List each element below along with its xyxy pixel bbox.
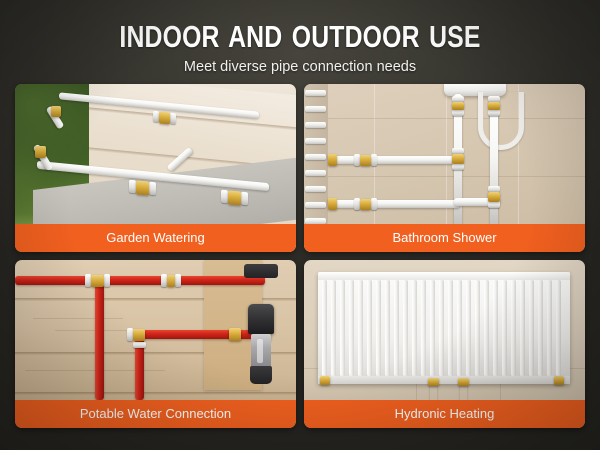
radiator-fin — [322, 280, 327, 376]
brass-fitting — [360, 155, 371, 166]
pipe-collar — [452, 110, 464, 116]
radiator-fin — [529, 280, 534, 376]
radiator-fin — [493, 280, 498, 376]
towel-rail — [305, 202, 326, 208]
brass-fitting — [488, 192, 500, 202]
panel-potable-water-connection[interactable]: Potable Water Connection — [15, 260, 296, 428]
brass-fitting — [136, 180, 149, 195]
radiator-fin — [349, 280, 354, 376]
towel-rail — [305, 106, 326, 112]
radiator-fin — [484, 280, 489, 376]
towel-rail — [305, 186, 326, 192]
radiator-fin — [547, 280, 552, 376]
brass-fitting — [328, 198, 337, 210]
radiator-fin — [520, 280, 525, 376]
radiator-fin — [448, 280, 453, 376]
towel-rail — [305, 138, 326, 144]
water-pipe — [332, 200, 460, 208]
pipe-collar — [452, 164, 464, 170]
brass-elbow — [133, 329, 145, 341]
pipe-collar — [133, 342, 146, 348]
wood-grain — [33, 318, 123, 319]
radiator-fin — [556, 280, 561, 376]
radiator-fin — [340, 280, 345, 376]
towel-rail — [305, 154, 326, 160]
brass-fitting — [159, 111, 170, 124]
towel-rail — [305, 90, 326, 96]
pipe-collar — [371, 198, 377, 210]
shower-hose — [478, 92, 524, 150]
panel-caption: Potable Water Connection — [15, 400, 296, 428]
radiator-top-rail — [318, 272, 570, 280]
brass-valve — [458, 378, 469, 386]
panel-bathroom-shower[interactable]: Bathroom Shower — [304, 84, 585, 252]
pipe-collar — [488, 202, 500, 208]
red-pipe — [15, 276, 265, 285]
pipe-collar — [170, 113, 176, 125]
radiator-fin — [331, 280, 336, 376]
pipe-collar — [241, 192, 248, 206]
radiator-fin — [457, 280, 462, 376]
header: INDOOR AND OUTDOOR USE Meet diverse pipe… — [0, 0, 600, 84]
radiator-fin — [394, 280, 399, 376]
radiator-fin — [358, 280, 363, 376]
filter-cap — [248, 304, 274, 334]
plank-seam — [15, 392, 296, 395]
page-title: INDOOR AND OUTDOOR USE — [60, 21, 540, 53]
radiator-fin — [475, 280, 480, 376]
radiator-fin — [502, 280, 507, 376]
towel-rail — [305, 170, 326, 176]
radiator-fin — [511, 280, 516, 376]
filter-base — [250, 366, 272, 384]
pipe-collar — [129, 180, 136, 194]
water-pipe — [332, 156, 460, 164]
brass-fitting — [35, 146, 46, 158]
radiator-fin — [403, 280, 408, 376]
brass-fitting — [452, 154, 464, 164]
brass-valve — [554, 376, 564, 385]
radiator-bottom-rail — [318, 376, 570, 384]
panel-grid: Garden Watering — [15, 84, 585, 436]
tile-seam — [304, 176, 585, 177]
water-filter — [248, 304, 274, 384]
brass-tee — [91, 275, 104, 287]
brass-fitting — [488, 102, 500, 110]
radiator-fin — [538, 280, 543, 376]
pipe-collar — [371, 154, 377, 166]
brass-fitting — [452, 102, 464, 110]
page-subtitle: Meet diverse pipe connection needs — [0, 59, 600, 76]
pipe-collar — [175, 274, 181, 287]
panel-hydronic-heating[interactable]: Hydronic Heating — [304, 260, 585, 428]
brass-valve — [428, 378, 439, 386]
panel-caption: Hydronic Heating — [304, 400, 585, 428]
column-radiator — [318, 272, 570, 384]
radiator-fin — [376, 280, 381, 376]
pipe-collar — [221, 190, 228, 204]
panel-caption: Garden Watering — [15, 224, 296, 252]
tile-seam — [304, 118, 585, 119]
radiator-fin — [412, 280, 417, 376]
radiator-fin — [430, 280, 435, 376]
brass-fitting — [328, 154, 337, 166]
brass-fitting — [360, 199, 371, 210]
towel-rail — [305, 122, 326, 128]
pipe-collar — [149, 182, 156, 196]
brass-valve — [320, 376, 330, 385]
radiator-fin — [367, 280, 372, 376]
brass-fitting — [51, 106, 61, 117]
panel-garden-watering[interactable]: Garden Watering — [15, 84, 296, 252]
radiator-fin — [385, 280, 390, 376]
filter-bracket — [244, 264, 278, 278]
panel-caption: Bathroom Shower — [304, 224, 585, 252]
pipe-collar — [104, 274, 110, 287]
red-pipe — [95, 284, 104, 400]
pipe-collar — [488, 110, 500, 116]
radiator-fin — [466, 280, 471, 376]
riser-pipe — [490, 106, 498, 226]
brass-fitting — [229, 328, 241, 341]
radiator-fin — [439, 280, 444, 376]
brass-fitting — [167, 275, 175, 287]
brass-fitting — [228, 190, 241, 205]
radiator-fin — [421, 280, 426, 376]
filter-bowl — [251, 334, 271, 368]
